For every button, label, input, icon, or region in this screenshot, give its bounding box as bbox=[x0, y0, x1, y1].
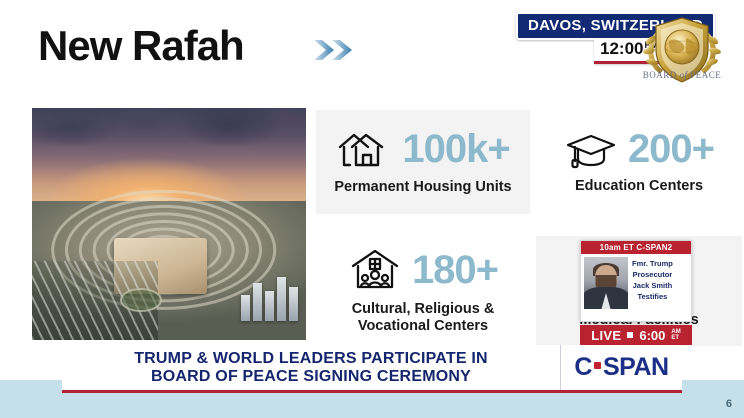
two-houses-icon bbox=[336, 127, 392, 171]
cloud-layer bbox=[32, 108, 306, 178]
live-timezone-line1: AM bbox=[671, 329, 680, 335]
presentation-slide: 6 New Rafah DAVOS, SWITZERLAND 12:00 PM bbox=[0, 0, 744, 418]
davos-header-group: DAVOS, SWITZERLAND 12:00 PM bbox=[498, 8, 734, 94]
stat-label-cultural: Cultural, Religious & Vocational Centers bbox=[352, 301, 495, 335]
roundabout bbox=[120, 288, 162, 312]
aerial-city-rendering-image bbox=[32, 108, 306, 340]
stat-card-cultural: 180+ Cultural, Religious & Vocational Ce… bbox=[316, 236, 530, 346]
stat-value-cultural: 180+ bbox=[412, 250, 498, 290]
promo-line-2: Prosecutor bbox=[632, 270, 673, 281]
stat-card-education: 200+ Education Centers bbox=[536, 110, 742, 214]
chyron-headline: TRUMP & WORLD LEADERS PARTICIPATE IN BOA… bbox=[62, 345, 560, 390]
live-time: 6:00 bbox=[639, 328, 665, 343]
promo-line-4: Testifies bbox=[632, 292, 673, 303]
broadcast-chyron: TRUMP & WORLD LEADERS PARTICIPATE IN BOA… bbox=[62, 345, 682, 393]
page-number: 6 bbox=[726, 398, 732, 410]
emblem-caption: BOARD of PEACE bbox=[632, 70, 732, 80]
double-chevron-right-icon bbox=[312, 36, 358, 64]
live-timezone-line2: ET bbox=[671, 335, 679, 341]
cspan-logo-span: SPAN bbox=[603, 353, 669, 382]
stat-value-housing: 100k+ bbox=[402, 129, 509, 169]
board-of-peace-shield-emblem bbox=[636, 10, 728, 94]
cspan-logo-dot-icon bbox=[594, 362, 601, 369]
promo-line-3: Jack Smith bbox=[632, 281, 673, 292]
promo-header: 10am ET C-SPAN2 bbox=[581, 241, 691, 254]
promo-text: Fmr. Trump Prosecutor Jack Smith Testifi… bbox=[632, 257, 673, 309]
promo-line-1: Fmr. Trump bbox=[632, 259, 673, 270]
emblem-caption-board: BOARD bbox=[643, 70, 677, 80]
chyron-line-1: TRUMP & WORLD LEADERS PARTICIPATE IN bbox=[134, 350, 488, 368]
chyron-line-2: BOARD OF PEACE SIGNING CEREMONY bbox=[151, 368, 471, 386]
stat-value-education: 200+ bbox=[628, 129, 714, 169]
high-rise-towers bbox=[241, 277, 298, 321]
page-title: New Rafah bbox=[38, 22, 244, 70]
live-status-bar: LIVE 6:00 AM ET bbox=[580, 325, 692, 345]
live-timezone: AM ET bbox=[671, 329, 680, 342]
emblem-caption-of: of bbox=[679, 70, 687, 80]
live-label: LIVE bbox=[591, 328, 621, 343]
cspan-logo-c: C bbox=[574, 353, 592, 382]
emblem-caption-peace: PEACE bbox=[690, 70, 721, 80]
cspan-promo-card: 10am ET C-SPAN2 Fmr. Trump Prosecutor Ja… bbox=[580, 240, 692, 322]
cspan-logo: C SPAN bbox=[560, 345, 682, 390]
stat-label-education: Education Centers bbox=[575, 178, 703, 195]
stat-label-cultural-line1: Cultural, Religious & bbox=[352, 301, 495, 317]
community-center-people-icon bbox=[348, 247, 402, 293]
stat-label-housing: Permanent Housing Units bbox=[334, 179, 511, 196]
jack-smith-portrait bbox=[584, 257, 628, 309]
square-bullet-icon bbox=[627, 332, 633, 338]
graduation-cap-icon bbox=[564, 128, 618, 170]
stat-label-cultural-line2: Vocational Centers bbox=[358, 318, 488, 334]
stat-card-housing: 100k+ Permanent Housing Units bbox=[316, 110, 530, 214]
